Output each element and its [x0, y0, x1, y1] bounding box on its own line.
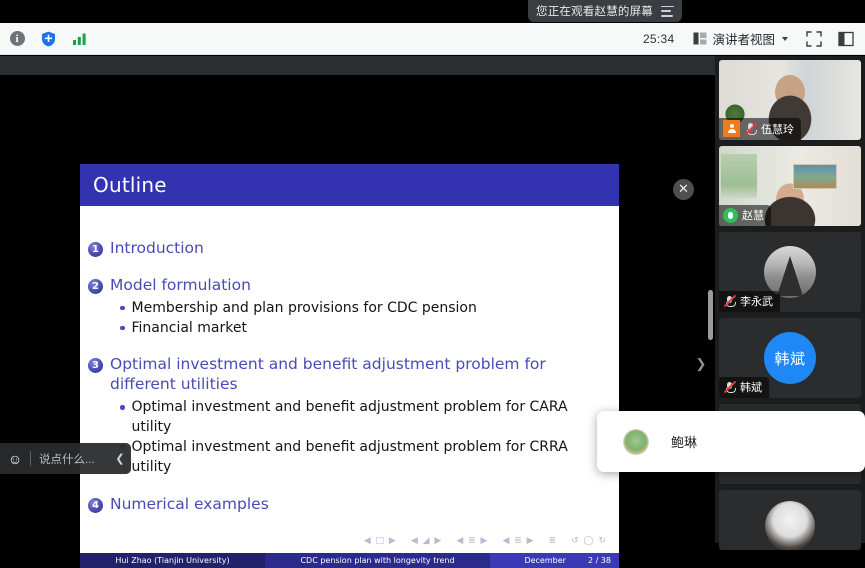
- slide-header: Outline: [80, 164, 619, 206]
- participant-name-popup[interactable]: 鲍琳: [597, 411, 865, 472]
- outline-subitems: Optimal investment and benefit adjustmen…: [120, 398, 611, 478]
- outline-subitem-label: Optimal investment and benefit adjustmen…: [132, 438, 612, 478]
- nav-glyph: ◀ □ ▶: [364, 536, 397, 546]
- outline-subitem: Financial market: [120, 319, 611, 339]
- outline-label: Model formulation: [110, 276, 251, 296]
- outline-subitem: Optimal investment and benefit adjustmen…: [120, 438, 611, 478]
- outline-number: 1: [88, 242, 103, 257]
- layout-icon[interactable]: [835, 28, 857, 50]
- mic-active-icon: [723, 208, 738, 223]
- outline-label: Numerical examples: [110, 495, 269, 515]
- chat-input[interactable]: 说点什么...: [31, 451, 109, 467]
- orange-person-badge-icon: [723, 120, 740, 137]
- slide-title: Outline: [93, 173, 167, 197]
- chevron-left-icon[interactable]: ❮: [109, 452, 131, 465]
- bullet-icon: [120, 306, 125, 311]
- outline-subitem: Optimal investment and benefit adjustmen…: [120, 398, 611, 438]
- info-icon[interactable]: i: [6, 28, 28, 50]
- eiffel-tower-avatar-icon: [777, 256, 803, 296]
- outline-item: 4 Numerical examples: [88, 495, 611, 515]
- outline-subitem-label: Financial market: [132, 319, 247, 339]
- footer-date: December: [524, 556, 565, 565]
- outline-number: 3: [88, 358, 103, 373]
- participant-tile[interactable]: 赵慧: [719, 146, 861, 226]
- nav-glyph: ◀ ◢ ▶: [411, 536, 443, 546]
- spacer: [88, 341, 611, 355]
- participant-tile[interactable]: [719, 490, 861, 550]
- outline-item: 2 Model formulation Membership and plan …: [88, 276, 611, 339]
- nav-glyph: ↺ ◯ ↻: [571, 536, 607, 546]
- shared-window-titlebar: [0, 56, 715, 75]
- avatar: 韩斌: [764, 332, 816, 384]
- screen-share-notice: 您正在观看赵慧的屏幕: [528, 0, 682, 22]
- participant-tile[interactable]: 李永武: [719, 232, 861, 312]
- meeting-timer: 25:34: [639, 30, 679, 48]
- spacer: [88, 481, 611, 495]
- view-mode-selector[interactable]: 演讲者视图: [688, 27, 793, 50]
- footer-author: Hui Zhao (Tianjin University): [80, 553, 265, 568]
- presentation-slide: Outline 1 Introduction 2 Model formulati…: [80, 164, 619, 568]
- outline-label: Optimal investment and benefit adjustmen…: [110, 355, 580, 395]
- participant-name-chip: 伍慧玲: [719, 118, 801, 140]
- participant-tile[interactable]: 伍慧玲: [719, 60, 861, 140]
- participant-name: 李永武: [740, 293, 773, 309]
- popup-participant-name: 鲍琳: [671, 432, 697, 451]
- bullet-icon: [120, 405, 125, 410]
- layout-speaker-icon: [693, 32, 707, 45]
- rail-scrollbar[interactable]: [708, 290, 713, 340]
- chevron-down-icon: [782, 37, 788, 41]
- outline-subitem-label: Membership and plan provisions for CDC p…: [132, 299, 477, 319]
- security-shield-icon[interactable]: [37, 28, 59, 50]
- outline-subitems: Membership and plan provisions for CDC p…: [120, 299, 611, 339]
- outline-subitem: Membership and plan provisions for CDC p…: [120, 299, 611, 319]
- outline-label: Introduction: [110, 239, 204, 259]
- nav-glyph: ◀ ≣ ▶: [456, 536, 488, 546]
- slide-body: 1 Introduction 2 Model formulation Membe…: [80, 206, 619, 522]
- mic-muted-icon: [744, 122, 757, 135]
- view-mode-label: 演讲者视图: [712, 29, 775, 48]
- toolbar-right-group: 25:34 演讲者视图: [639, 27, 865, 50]
- bullet-icon: [120, 326, 125, 331]
- outline-item: 3 Optimal investment and benefit adjustm…: [88, 355, 611, 477]
- participant-name-chip: 韩斌: [719, 377, 769, 398]
- network-signal-icon[interactable]: [68, 28, 90, 50]
- participant-name-chip: 李永武: [719, 291, 780, 312]
- participant-tile[interactable]: 韩斌 韩斌: [719, 318, 861, 398]
- beamer-navigation-glyphs: ◀ □ ▶ ◀ ◢ ▶ ◀ ≣ ▶ ◀ ≣ ▶ ≣ ↺ ◯ ↻: [80, 536, 619, 546]
- outline-number: 2: [88, 279, 103, 294]
- participant-name: 伍慧玲: [761, 121, 794, 137]
- fullscreen-icon[interactable]: [803, 28, 825, 50]
- nav-glyph: ≣: [549, 536, 558, 546]
- chevron-right-icon[interactable]: ❯: [694, 354, 708, 374]
- slide-footer: Hui Zhao (Tianjin University) CDC pensio…: [80, 553, 619, 568]
- nav-glyph: ◀ ≣ ▶: [502, 536, 534, 546]
- close-icon[interactable]: ✕: [673, 179, 694, 200]
- screen-share-notice-text: 您正在观看赵慧的屏幕: [536, 3, 655, 19]
- hamburger-icon[interactable]: [661, 6, 674, 17]
- outline-item: 1 Introduction: [88, 239, 611, 259]
- outline-subitem-label: Optimal investment and benefit adjustmen…: [132, 398, 612, 438]
- mic-muted-icon: [723, 381, 736, 394]
- emoji-smiley-icon[interactable]: ☺: [0, 451, 30, 467]
- footer-subject: CDC pension plan with longevity trend: [265, 553, 490, 568]
- spacer: [88, 262, 611, 276]
- participant-name-chip: 赵慧: [719, 205, 771, 226]
- toolbar-left-group: i: [0, 28, 90, 50]
- participant-name: 赵慧: [742, 207, 764, 223]
- outline-number: 4: [88, 498, 103, 513]
- participant-name: 韩斌: [740, 379, 762, 395]
- user-avatar-icon: [623, 429, 649, 455]
- footer-page-number: 2 / 38: [588, 556, 611, 565]
- top-toolbar: i 25:34 演讲者视图: [0, 23, 865, 55]
- chat-composer-bar[interactable]: ☺ 说点什么... ❮: [0, 443, 131, 474]
- mic-muted-icon: [723, 295, 736, 308]
